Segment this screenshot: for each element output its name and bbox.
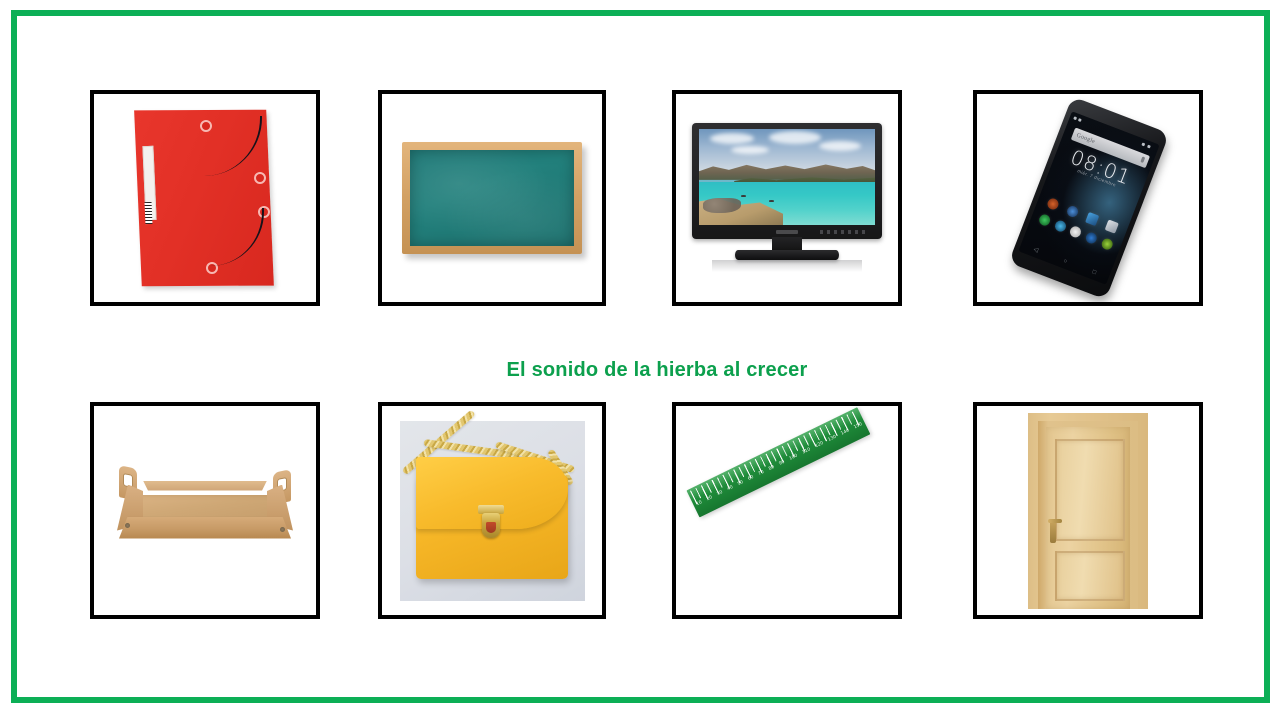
ruler-number: 80 <box>768 464 777 475</box>
picture-card-yellow-purse[interactable] <box>378 402 606 619</box>
tv-indicator-lights <box>820 230 868 234</box>
tv-brand-logo <box>776 230 798 234</box>
phone-body: Google 08:01 miér. 7 diciembre <box>1009 96 1170 299</box>
television-illustration <box>692 123 882 273</box>
phone-screen: Google 08:01 miér. 7 diciembre <box>1018 111 1160 285</box>
door-handle-plate[interactable] <box>1050 521 1056 543</box>
app-drawer-icon[interactable] <box>1069 225 1083 239</box>
tray-screw <box>125 523 130 528</box>
tv-cloud <box>710 133 754 144</box>
ruler-number: 50 <box>737 480 746 491</box>
ruler-number: 90 <box>778 459 787 470</box>
wooden-tray-image <box>94 406 316 615</box>
chrome-app-icon[interactable] <box>1084 231 1098 245</box>
red-folder-image <box>94 94 316 302</box>
tray-illustration <box>107 459 303 563</box>
ruler-number: 60 <box>747 474 756 485</box>
tray-screw <box>280 527 285 532</box>
status-icon <box>1147 145 1151 149</box>
door-handle-lever[interactable] <box>1048 519 1062 523</box>
smartphone-image: Google 08:01 miér. 7 diciembre <box>977 94 1199 302</box>
picture-card-chalkboard[interactable] <box>378 90 606 306</box>
television-image <box>676 94 898 302</box>
ruler-number: 20 <box>706 495 715 506</box>
tray-back-rail <box>143 481 267 491</box>
ruler-number: 70 <box>758 469 767 480</box>
status-icon <box>1073 116 1077 120</box>
tv-cloud <box>769 131 821 144</box>
google-search-placeholder: Google <box>1072 131 1096 145</box>
tv-stand-base <box>735 250 839 260</box>
tv-bezel <box>692 123 882 239</box>
microphone-icon[interactable] <box>1140 156 1145 163</box>
ruler-scale-numbers: 10 20 30 40 50 60 70 80 90 100 110 120 <box>696 422 865 511</box>
green-ruler-image: 10 20 30 40 50 60 70 80 90 100 110 120 <box>676 406 898 615</box>
smartphone-illustration: Google 08:01 miér. 7 diciembre <box>1013 103 1163 293</box>
purse-photo-background <box>400 421 585 601</box>
ruler-illustration: 10 20 30 40 50 60 70 80 90 100 110 120 <box>687 431 887 591</box>
door-illustration <box>1028 413 1148 609</box>
purse-lock-clasp <box>482 513 500 538</box>
ruler-body: 10 20 30 40 50 60 70 80 90 100 110 120 <box>686 407 870 517</box>
door-leaf <box>1046 427 1130 609</box>
wooden-door-image <box>977 406 1199 615</box>
yellow-purse-image <box>382 406 602 615</box>
chalkboard-illustration <box>402 142 582 254</box>
play-store-app-icon[interactable] <box>1085 212 1099 226</box>
home-icon[interactable]: ○ <box>1063 258 1069 265</box>
picture-card-television[interactable] <box>672 90 902 306</box>
picture-card-green-ruler[interactable]: 10 20 30 40 50 60 70 80 90 100 110 120 <box>672 402 902 619</box>
camera-app-icon[interactable] <box>1046 197 1060 211</box>
tv-reflection <box>712 260 862 272</box>
messaging-app-icon[interactable] <box>1100 237 1114 251</box>
tv-screen <box>699 129 875 225</box>
slide-caption: El sonido de la hierba al crecer <box>17 359 1280 382</box>
browser-app-icon[interactable] <box>1065 204 1079 218</box>
slide-green-border: Google 08:01 miér. 7 diciembre <box>11 10 1270 703</box>
door-panel-lower <box>1055 551 1125 601</box>
picture-card-red-folder[interactable] <box>90 90 320 306</box>
picture-card-smartphone[interactable]: Google 08:01 miér. 7 diciembre <box>973 90 1203 306</box>
folder-eyelet <box>254 172 266 184</box>
tv-cloud <box>819 141 861 151</box>
chalkboard-image <box>382 94 602 302</box>
door-panel-upper <box>1055 439 1125 541</box>
slide-canvas: Google 08:01 miér. 7 diciembre <box>0 0 1280 720</box>
folder-illustration <box>130 106 280 291</box>
phone-app-icon[interactable] <box>1037 213 1051 227</box>
ruler-major-ticks <box>690 410 862 504</box>
ruler-number: 30 <box>716 490 725 501</box>
folder-barcode <box>145 201 153 223</box>
status-icon <box>1078 118 1082 122</box>
ruler-number: 10 <box>696 500 705 511</box>
picture-card-wooden-door[interactable] <box>973 402 1203 619</box>
tray-front-rail <box>119 517 291 539</box>
recents-icon[interactable]: □ <box>1091 269 1097 276</box>
status-icon <box>1141 142 1145 146</box>
contacts-app-icon[interactable] <box>1053 219 1067 233</box>
back-icon[interactable]: ◁ <box>1032 246 1039 254</box>
email-app-icon[interactable] <box>1105 219 1119 233</box>
picture-card-wooden-tray[interactable] <box>90 402 320 619</box>
ruler-number: 40 <box>727 485 736 496</box>
chalkboard-surface <box>410 150 574 246</box>
